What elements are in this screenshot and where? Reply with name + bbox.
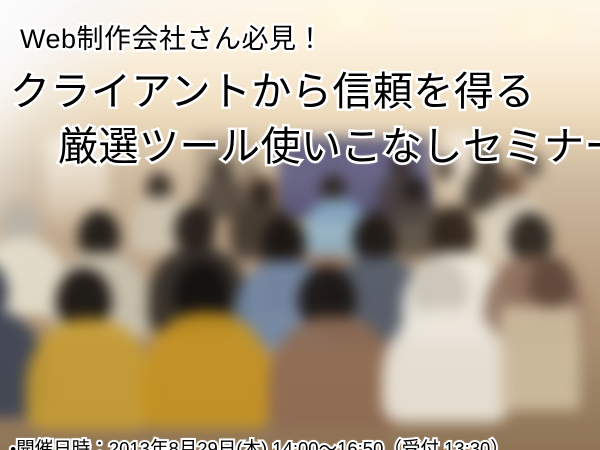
background-photo bbox=[0, 0, 600, 450]
seminar-banner: Web制作会社さん必見！ クライアントから信頼を得る 厳選ツール使いこなしセミナ… bbox=[0, 0, 600, 450]
headline-kicker: Web制作会社さん必見！ bbox=[20, 26, 324, 53]
headline-line-1: クライアントから信頼を得る bbox=[10, 72, 535, 112]
headline-line-2: 厳選ツール使いこなしセミナー bbox=[58, 127, 600, 167]
audience-layer bbox=[0, 0, 600, 450]
detail-line-datetime: ・開催日時：2013年8月29日(木) 14:00〜16:50（受付 13:30… bbox=[10, 440, 509, 450]
